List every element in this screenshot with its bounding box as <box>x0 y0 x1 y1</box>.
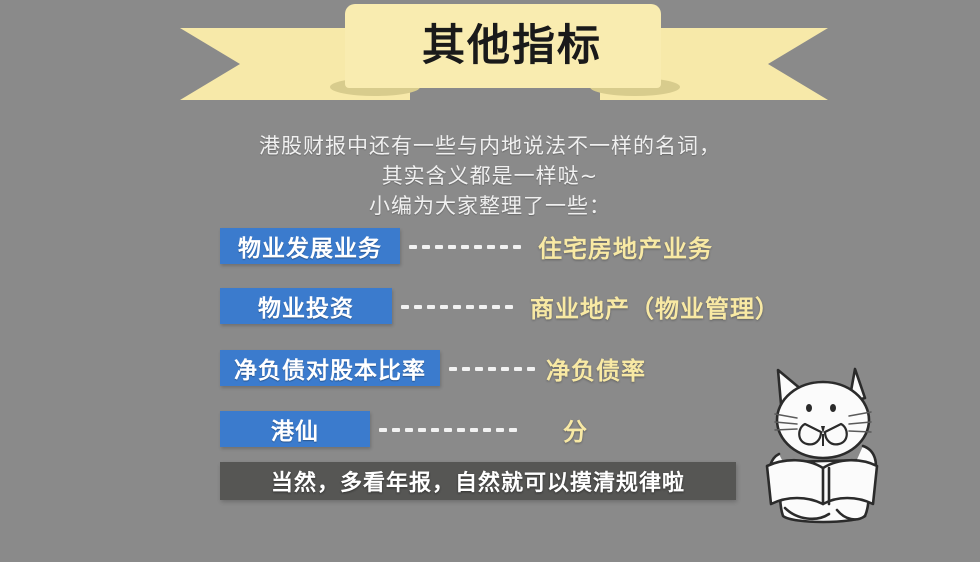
meaning-text: 净负债率 <box>546 351 646 386</box>
dashed-connector <box>409 227 529 265</box>
dash-segment <box>466 305 474 309</box>
dash-segment <box>487 245 495 249</box>
dash-segment <box>492 305 500 309</box>
slide-canvas: 其他指标 港股财报中还有一些与内地说法不一样的名词， 其实含义都是一样哒~ 小编… <box>0 0 980 562</box>
dash-segment <box>392 428 400 432</box>
mapping-row: 净负债对股本比率 净负债率 <box>220 350 646 386</box>
dash-segment <box>401 305 409 309</box>
mapping-row: 港仙 分 <box>220 411 588 447</box>
dash-segment <box>409 245 417 249</box>
dash-segment <box>457 428 465 432</box>
dash-segment <box>379 428 387 432</box>
dashed-connector <box>401 287 521 325</box>
intro-paragraph: 港股财报中还有一些与内地说法不一样的名词， 其实含义都是一样哒~ 小编为大家整理… <box>0 131 980 221</box>
term-box: 净负债对股本比率 <box>220 350 440 386</box>
dash-segment <box>405 428 413 432</box>
dash-segment <box>527 367 535 371</box>
dash-segment <box>431 428 439 432</box>
mapping-row: 物业投资 商业地产（物业管理） <box>220 288 780 324</box>
footer-note-bar: 当然，多看年报，自然就可以摸清规律啦 <box>220 462 736 500</box>
dash-segment <box>444 428 452 432</box>
dash-segment <box>418 428 426 432</box>
dash-segment <box>505 305 513 309</box>
dash-segment <box>509 428 517 432</box>
term-box: 物业投资 <box>220 288 392 324</box>
dash-segment <box>422 245 430 249</box>
intro-line-1: 港股财报中还有一些与内地说法不一样的名词， <box>0 131 980 161</box>
dash-segment <box>449 367 457 371</box>
dash-segment <box>496 428 504 432</box>
meaning-text: 分 <box>563 412 588 447</box>
ribbon-banner: 其他指标 <box>0 0 980 112</box>
dash-segment <box>479 305 487 309</box>
dash-segment <box>427 305 435 309</box>
dash-segment <box>514 367 522 371</box>
intro-line-2: 其实含义都是一样哒~ <box>0 161 980 191</box>
mapping-row: 物业发展业务 住宅房地产业务 <box>220 228 713 264</box>
dashed-connector <box>379 410 529 448</box>
dash-segment <box>500 245 508 249</box>
dash-segment <box>474 245 482 249</box>
meaning-text: 住宅房地产业务 <box>538 229 713 264</box>
dash-segment <box>435 245 443 249</box>
dash-segment <box>475 367 483 371</box>
dash-segment <box>501 367 509 371</box>
term-box: 物业发展业务 <box>220 228 400 264</box>
dash-segment <box>414 305 422 309</box>
meaning-text: 商业地产（物业管理） <box>530 289 780 324</box>
dashed-connector <box>449 349 537 387</box>
dash-segment <box>470 428 478 432</box>
page-title: 其他指标 <box>345 4 661 88</box>
dash-segment <box>513 245 521 249</box>
dash-segment <box>453 305 461 309</box>
dash-segment <box>488 367 496 371</box>
dash-segment <box>483 428 491 432</box>
cat-reading-book-icon <box>745 358 905 533</box>
dash-segment <box>462 367 470 371</box>
term-box: 港仙 <box>220 411 370 447</box>
dash-segment <box>448 245 456 249</box>
intro-line-3: 小编为大家整理了一些： <box>0 191 980 221</box>
dash-segment <box>440 305 448 309</box>
dash-segment <box>461 245 469 249</box>
